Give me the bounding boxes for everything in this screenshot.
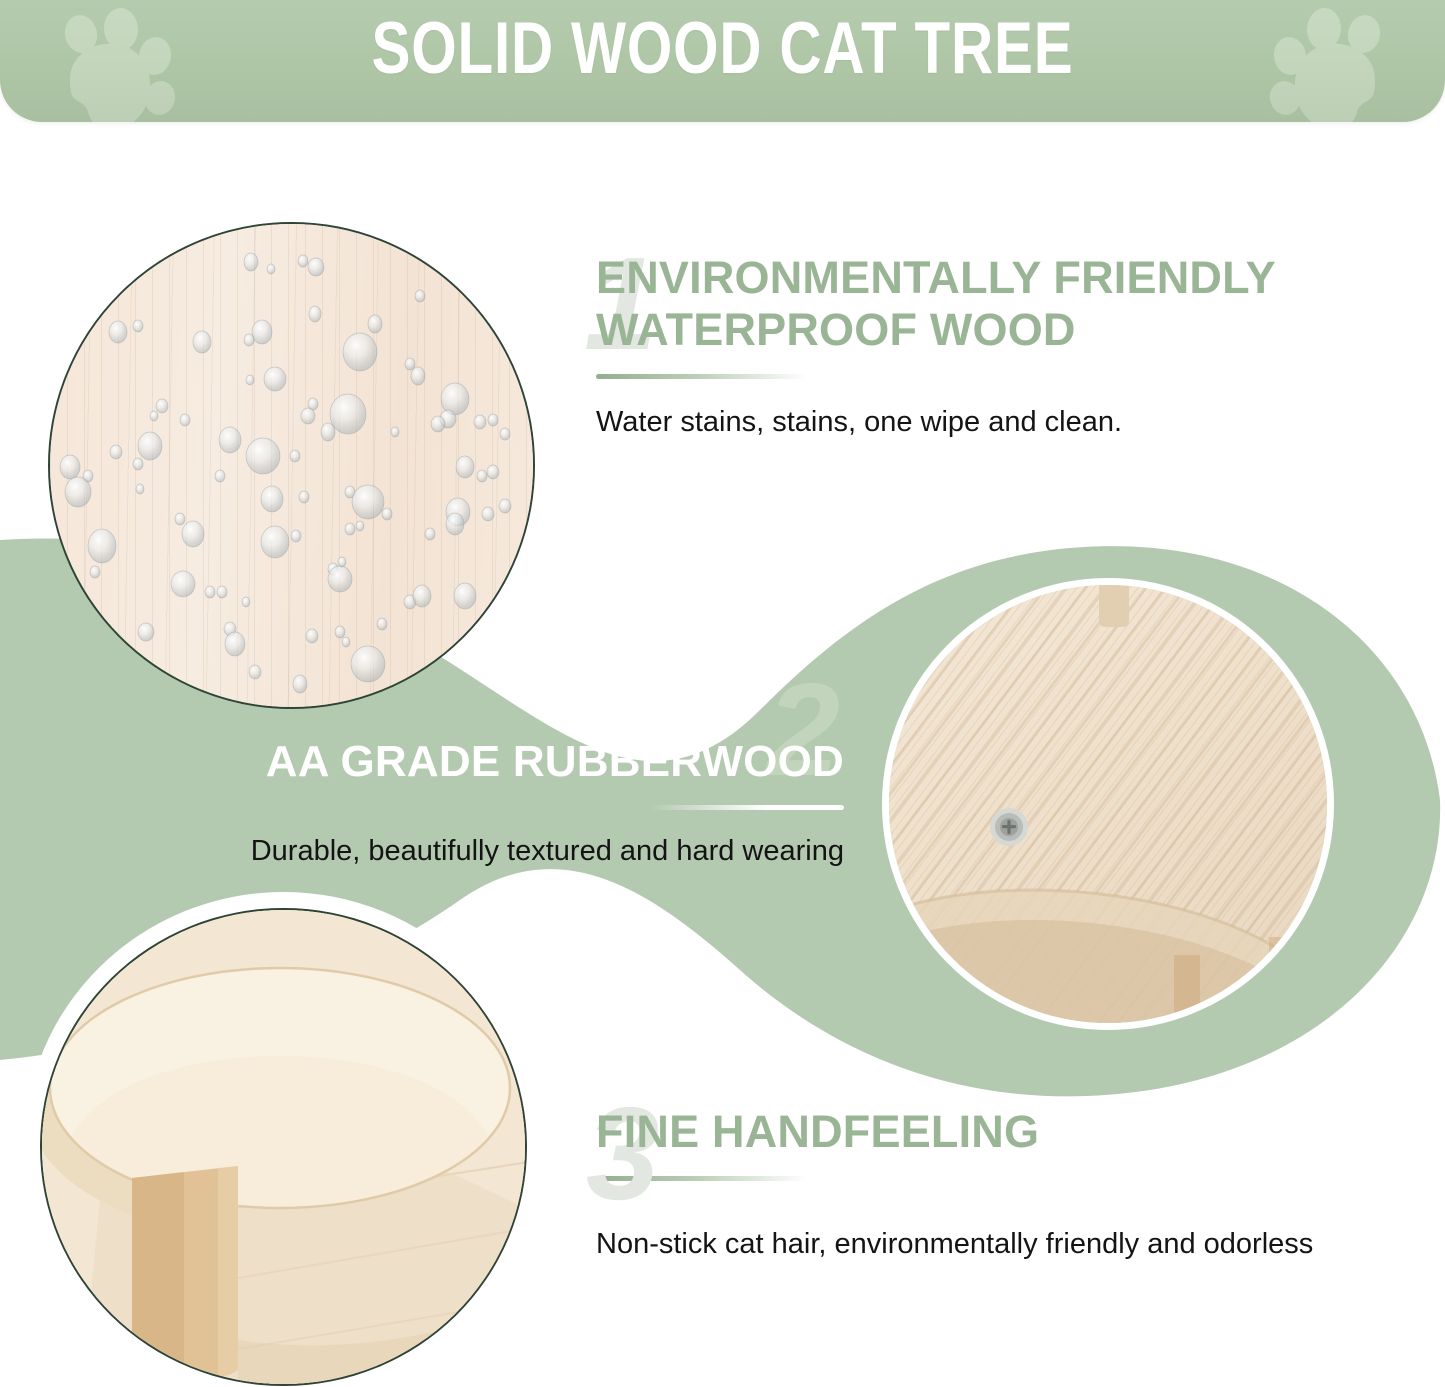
feature-heading-rubberwood: AA GRADE RUBBERWOOD: [182, 736, 844, 787]
feature-divider: [649, 805, 844, 810]
platform-detail-overlay: [889, 585, 1334, 1030]
water-droplets-overlay: [50, 224, 535, 709]
feature-block-handfeeling: 3 FINE HANDFEELING Non-stick cat hair, e…: [596, 1106, 1356, 1264]
feature-body-handfeeling: Non-stick cat hair, environmentally frie…: [596, 1225, 1356, 1264]
platform-post-overlay: [42, 910, 527, 1386]
feature-block-waterproof: 1 ENVIRONMENTALLY FRIENDLY WATERPROOF WO…: [596, 252, 1356, 442]
title-banner: SOLID WOOD CAT TREE: [0, 0, 1445, 122]
image-waterproof-wood-droplets: [48, 222, 535, 709]
feature-block-rubberwood: 2 AA GRADE RUBBERWOOD Durable, beautiful…: [182, 736, 844, 871]
feature-body-waterproof: Water stains, stains, one wipe and clean…: [596, 403, 1356, 442]
page-title: SOLID WOOD CAT TREE: [145, 12, 1301, 85]
feature-heading-waterproof: ENVIRONMENTALLY FRIENDLY WATERPROOF WOOD: [596, 252, 1356, 356]
feature-body-rubberwood: Durable, beautifully textured and hard w…: [182, 832, 844, 871]
feature-heading-handfeeling: FINE HANDFEELING: [596, 1106, 1356, 1158]
image-handfeeling-platform: [40, 908, 527, 1386]
image-rubberwood-platform: [882, 578, 1334, 1030]
